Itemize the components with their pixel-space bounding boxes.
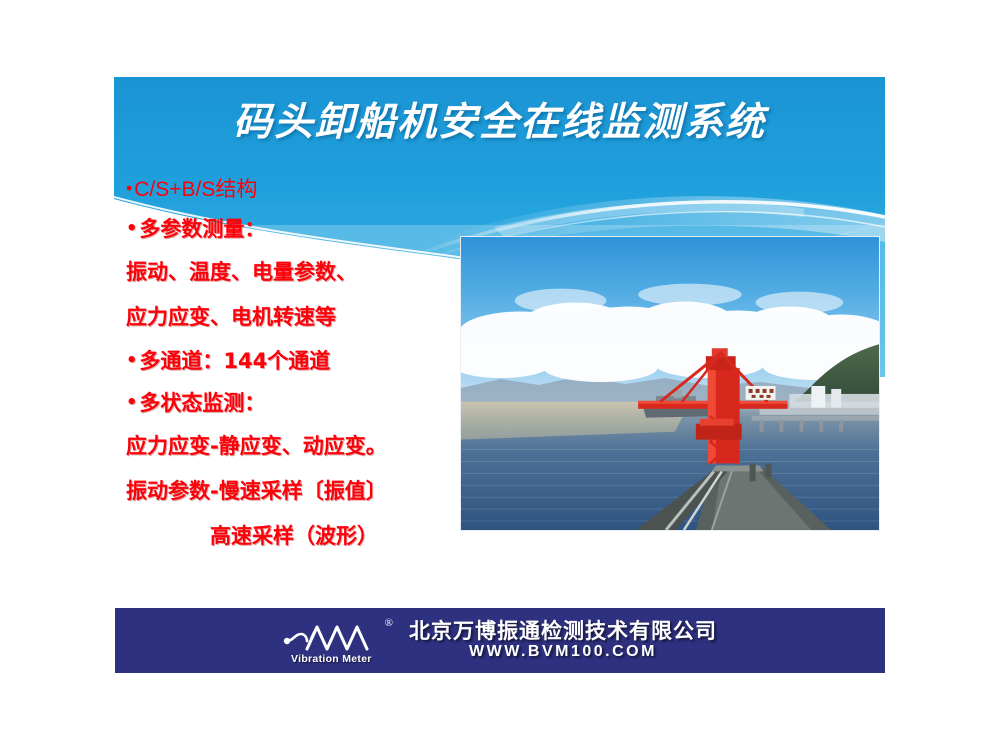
bullet-item-7: 振动参数-慢速采样〔振值〕: [126, 469, 466, 514]
bullet-list: C/S+B/S结构 多参数测量： 振动、温度、电量参数、 应力应变、电机转速等 …: [126, 170, 466, 559]
bullet-item-3: 应力应变、电机转速等: [126, 295, 466, 340]
company-name: 北京万博振通检测技术有限公司: [409, 620, 717, 642]
bullet-item-2: 振动、温度、电量参数、: [126, 250, 466, 295]
company-url: WWW.BVM100.COM: [409, 644, 717, 661]
photo-artwork: [461, 237, 879, 530]
slide-canvas: 码头卸船机安全在线监测系统 C/S+B/S结构 多参数测量： 振动、温度、电量参…: [0, 0, 1000, 750]
footer-company-block: 北京万博振通检测技术有限公司 WWW.BVM100.COM: [409, 620, 717, 661]
bullet-item-6: 应力应变-静应变、动应变。: [126, 424, 466, 469]
bullet-item-5: 多状态监测：: [126, 382, 466, 424]
bullet-item-0: C/S+B/S结构: [126, 170, 466, 208]
bullet-item-8: 高速采样（波形）: [126, 514, 466, 559]
footer-bar: ® Vibration Meter 北京万博振通检测技术有限公司 WWW.BVM…: [115, 608, 885, 673]
registered-trademark-icon: ®: [385, 617, 393, 629]
port-crane-photo: [460, 236, 880, 531]
bullet-item-1: 多参数测量：: [126, 208, 466, 250]
logo-wordmark: Vibration Meter: [291, 653, 372, 665]
footer-content: ® Vibration Meter 北京万博振通检测技术有限公司 WWW.BVM…: [115, 608, 885, 673]
bullet-item-4: 多通道：144个通道: [126, 340, 466, 382]
page-title: 码头卸船机安全在线监测系统: [114, 98, 885, 146]
vibration-meter-logo: ® Vibration Meter: [283, 617, 395, 665]
